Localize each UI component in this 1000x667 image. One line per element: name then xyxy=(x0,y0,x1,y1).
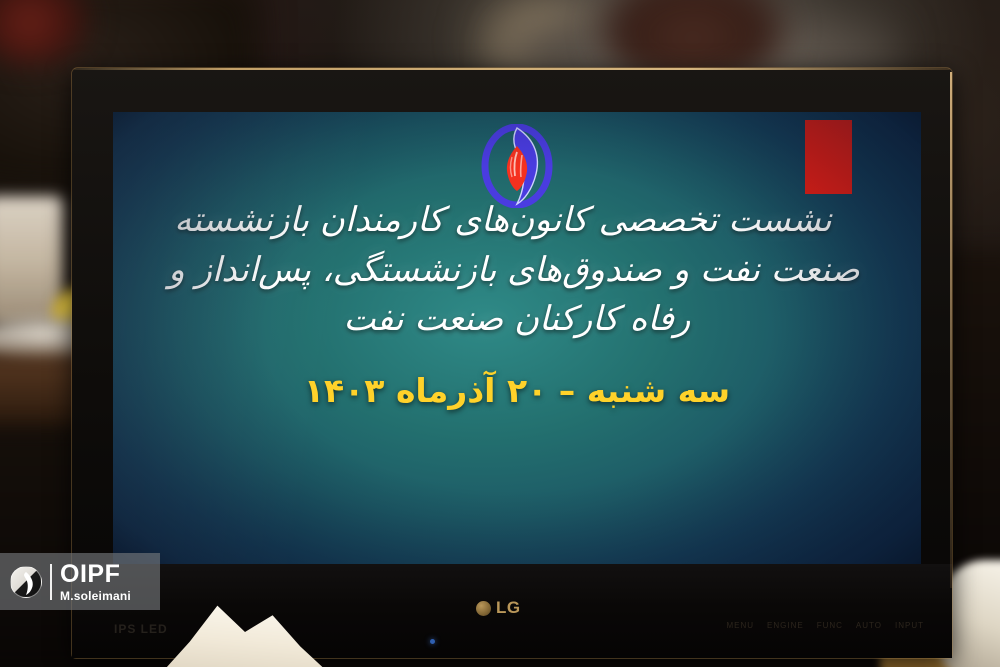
power-led-indicator xyxy=(430,639,435,644)
oipf-watermark: OIPF M.soleimani xyxy=(0,553,160,610)
watermark-texts: OIPF M.soleimani xyxy=(60,562,131,602)
monitor-screen: نشست تخصصی کانون‌های کارمندان بازنشسته ص… xyxy=(113,112,921,564)
osd-button-menu[interactable]: MENU xyxy=(726,621,754,630)
osd-button-input[interactable]: INPUT xyxy=(895,621,924,630)
lg-wordmark: LG xyxy=(496,598,521,618)
oipf-flame-icon xyxy=(10,566,42,598)
ips-led-label: IPS LED xyxy=(114,622,168,636)
osd-button-func[interactable]: FUNC xyxy=(817,621,843,630)
photo-scene: نشست تخصصی کانون‌های کارمندان بازنشسته ص… xyxy=(0,0,1000,667)
watermark-title: OIPF xyxy=(60,562,131,587)
osd-button-labels: MENU ENGINE FUNC AUTO INPUT xyxy=(726,621,924,630)
osd-button-auto[interactable]: AUTO xyxy=(856,621,882,630)
watermark-divider xyxy=(50,564,52,600)
osd-button-engine[interactable]: ENGINE xyxy=(767,621,804,630)
lg-circle-icon xyxy=(476,601,491,616)
lg-logo: LG xyxy=(476,598,521,618)
screen-vignette xyxy=(113,112,921,564)
lg-monitor: نشست تخصصی کانون‌های کارمندان بازنشسته ص… xyxy=(72,68,952,658)
watermark-subtitle: M.soleimani xyxy=(60,590,131,602)
